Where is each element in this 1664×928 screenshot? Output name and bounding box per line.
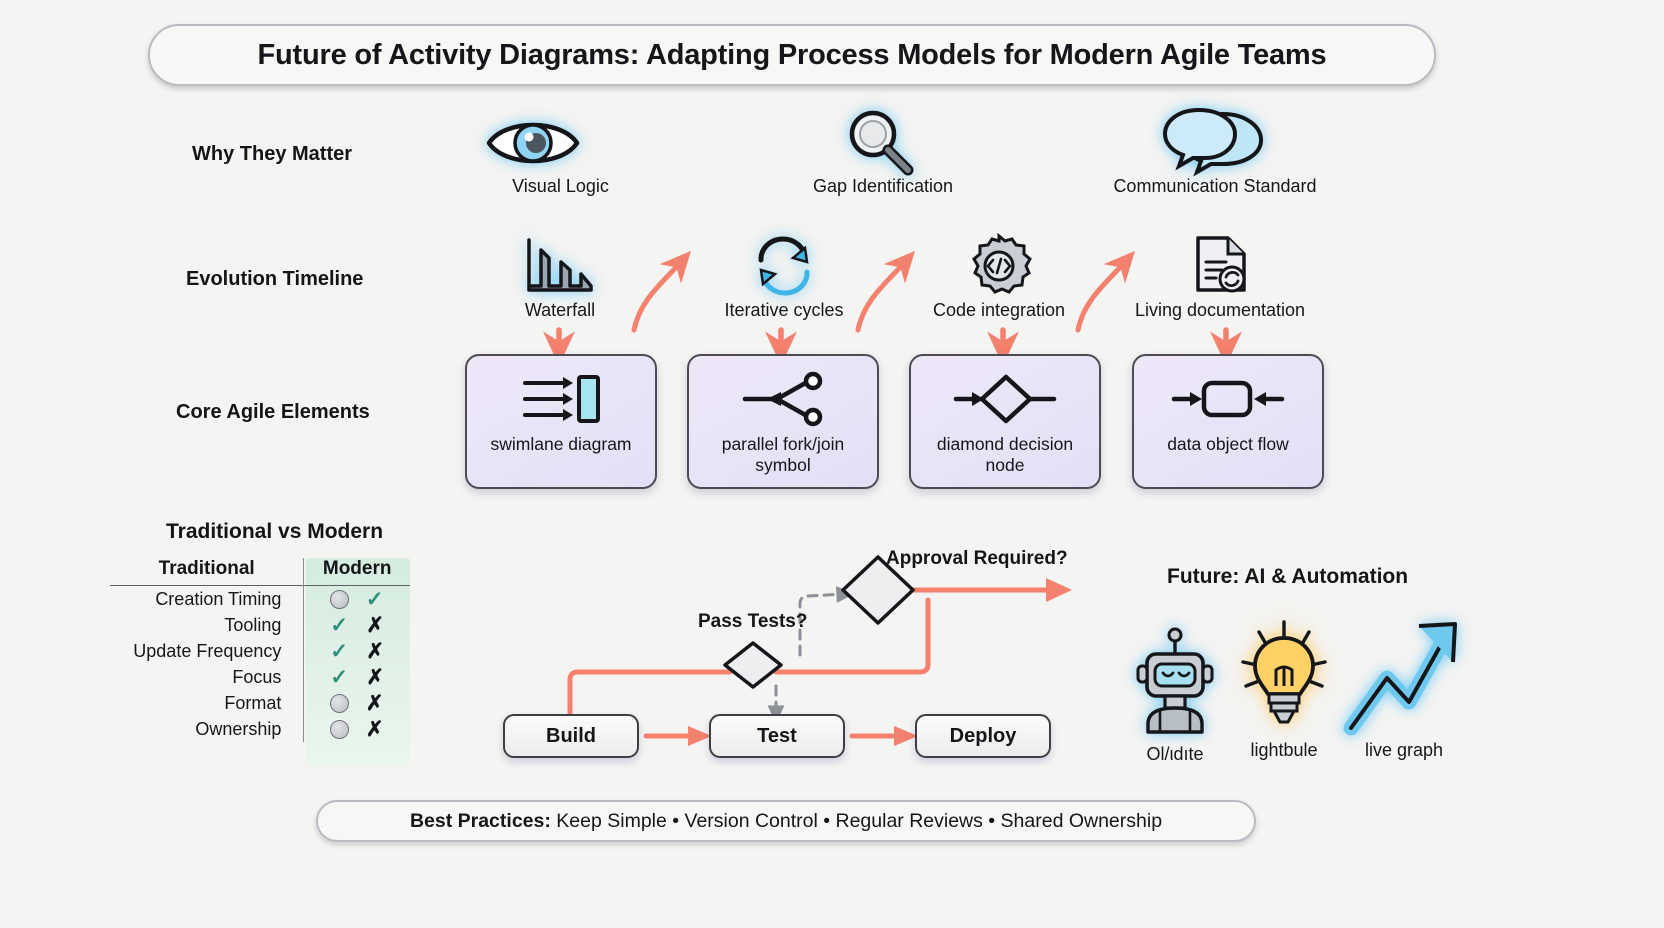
evolution-item-code-integration: Code integration	[925, 234, 1073, 321]
core-card-decision-node[interactable]: diamond decision node	[909, 354, 1101, 489]
row-marks: ✓	[304, 586, 410, 613]
fork-join-icon	[741, 370, 825, 428]
cross-mark: ✗	[365, 693, 385, 713]
why-item-visual-logic: Visual Logic	[483, 112, 638, 197]
row-label: Ownership	[110, 716, 304, 742]
table-row: Creation Timing ✓	[110, 586, 410, 613]
core-card-label: diamond decision node	[911, 434, 1099, 475]
best-practices-bar: Best Practices: Keep Simple • Version Co…	[316, 800, 1256, 842]
evolution-item-living-documentation: Living documentation	[1120, 234, 1320, 321]
lightbulb-icon	[1241, 620, 1327, 738]
core-card-data-object[interactable]: data object flow	[1132, 354, 1324, 489]
evolution-item-iterative-cycles: Iterative cycles	[714, 234, 854, 321]
refresh-cycle-icon	[749, 234, 819, 298]
row-label: Format	[110, 690, 304, 716]
speech-bubbles-icon	[1163, 106, 1267, 174]
page-title: Future of Activity Diagrams: Adapting Pr…	[148, 24, 1436, 86]
why-caption: Communication Standard	[1098, 176, 1332, 197]
table-row: Update Frequency ✓✗	[110, 638, 410, 664]
table-row: Ownership ✗	[110, 716, 410, 742]
check-mark: ✓	[365, 589, 385, 609]
comparison-table: Traditional Modern Creation Timing ✓ Too…	[110, 558, 410, 742]
future-caption: live graph	[1340, 740, 1468, 761]
data-object-icon	[1170, 370, 1286, 428]
flow-step-build[interactable]: Build	[503, 714, 639, 758]
declining-chart-icon	[523, 236, 597, 298]
robot-icon	[1136, 628, 1214, 740]
check-mark: ✓	[329, 615, 349, 635]
circle-mark	[330, 694, 349, 713]
core-card-fork-join[interactable]: parallel fork/join symbol	[687, 354, 879, 489]
evolution-caption: Living documentation	[1120, 300, 1320, 321]
row-label: Update Frequency	[110, 638, 304, 664]
table-row: Focus ✓✗	[110, 664, 410, 690]
future-caption: lightbule	[1240, 740, 1328, 761]
decision-diamond-icon	[950, 370, 1060, 428]
why-caption: Gap Identification	[803, 176, 963, 197]
row-marks: ✓✗	[304, 664, 410, 690]
flow-decision-label-pass-tests: Pass Tests?	[698, 611, 807, 633]
flow-step-deploy[interactable]: Deploy	[915, 714, 1051, 758]
evolution-caption: Iterative cycles	[714, 300, 854, 321]
table-row: Tooling ✓✗	[110, 612, 410, 638]
core-card-label: data object flow	[1159, 434, 1297, 455]
check-mark: ✓	[329, 667, 349, 687]
row-label-evolution-timeline: Evolution Timeline	[186, 268, 363, 291]
row-label-core-agile-elements: Core Agile Elements	[176, 401, 370, 424]
rising-graph-icon	[1343, 618, 1465, 738]
cross-mark: ✗	[365, 641, 385, 661]
row-marks: ✓✗	[304, 638, 410, 664]
gear-code-icon	[966, 234, 1032, 298]
column-header-traditional: Traditional	[110, 558, 304, 586]
why-caption: Visual Logic	[483, 176, 638, 197]
column-header-modern: Modern	[304, 558, 410, 586]
row-label: Tooling	[110, 612, 304, 638]
row-label: Creation Timing	[110, 586, 304, 613]
check-mark: ✓	[329, 641, 349, 661]
cross-mark: ✗	[365, 667, 385, 687]
future-section-title: Future: AI & Automation	[1167, 565, 1408, 589]
page-title-text: Future of Activity Diagrams: Adapting Pr…	[258, 39, 1327, 72]
comparison-title: Traditional vs Modern	[166, 520, 383, 544]
best-practices-text: Best Practices: Keep Simple • Version Co…	[410, 810, 1162, 833]
why-item-gap-identification: Gap Identification	[803, 108, 963, 197]
core-card-label: swimlane diagram	[482, 434, 639, 455]
table-row: Format ✗	[110, 690, 410, 716]
swimlane-icon	[519, 370, 603, 428]
cross-mark: ✗	[365, 615, 385, 635]
magnifier-icon	[840, 108, 926, 174]
row-label: Focus	[110, 664, 304, 690]
future-caption: Ol/ιdıte	[1130, 744, 1220, 765]
evolution-item-waterfall: Waterfall	[498, 236, 622, 321]
evolution-caption: Waterfall	[498, 300, 622, 321]
best-practices-items: Keep Simple • Version Control • Regular …	[556, 810, 1162, 832]
best-practices-prefix: Best Practices:	[410, 810, 551, 832]
table-header-row: Traditional Modern	[110, 558, 410, 586]
future-item-robot: Ol/ιdıte	[1130, 628, 1220, 765]
cross-mark: ✗	[365, 719, 385, 739]
evolution-caption: Code integration	[925, 300, 1073, 321]
row-marks: ✗	[304, 716, 410, 742]
why-item-communication-standard: Communication Standard	[1098, 106, 1332, 197]
circle-mark	[330, 590, 349, 609]
flow-step-test[interactable]: Test	[709, 714, 845, 758]
infographic-canvas: Future of Activity Diagrams: Adapting Pr…	[0, 0, 1664, 928]
core-card-label: parallel fork/join symbol	[689, 434, 877, 475]
row-marks: ✗	[304, 690, 410, 716]
row-marks: ✓✗	[304, 612, 410, 638]
document-sync-icon	[1190, 234, 1250, 298]
row-label-why-they-matter: Why They Matter	[192, 143, 352, 166]
eye-icon	[483, 112, 583, 174]
future-item-lightbulb: lightbule	[1240, 620, 1328, 761]
flow-decision-label-approval-required: Approval Required?	[886, 548, 1068, 570]
future-item-live-graph: live graph	[1340, 618, 1468, 761]
circle-mark	[330, 720, 349, 739]
core-card-swimlane[interactable]: swimlane diagram	[465, 354, 657, 489]
